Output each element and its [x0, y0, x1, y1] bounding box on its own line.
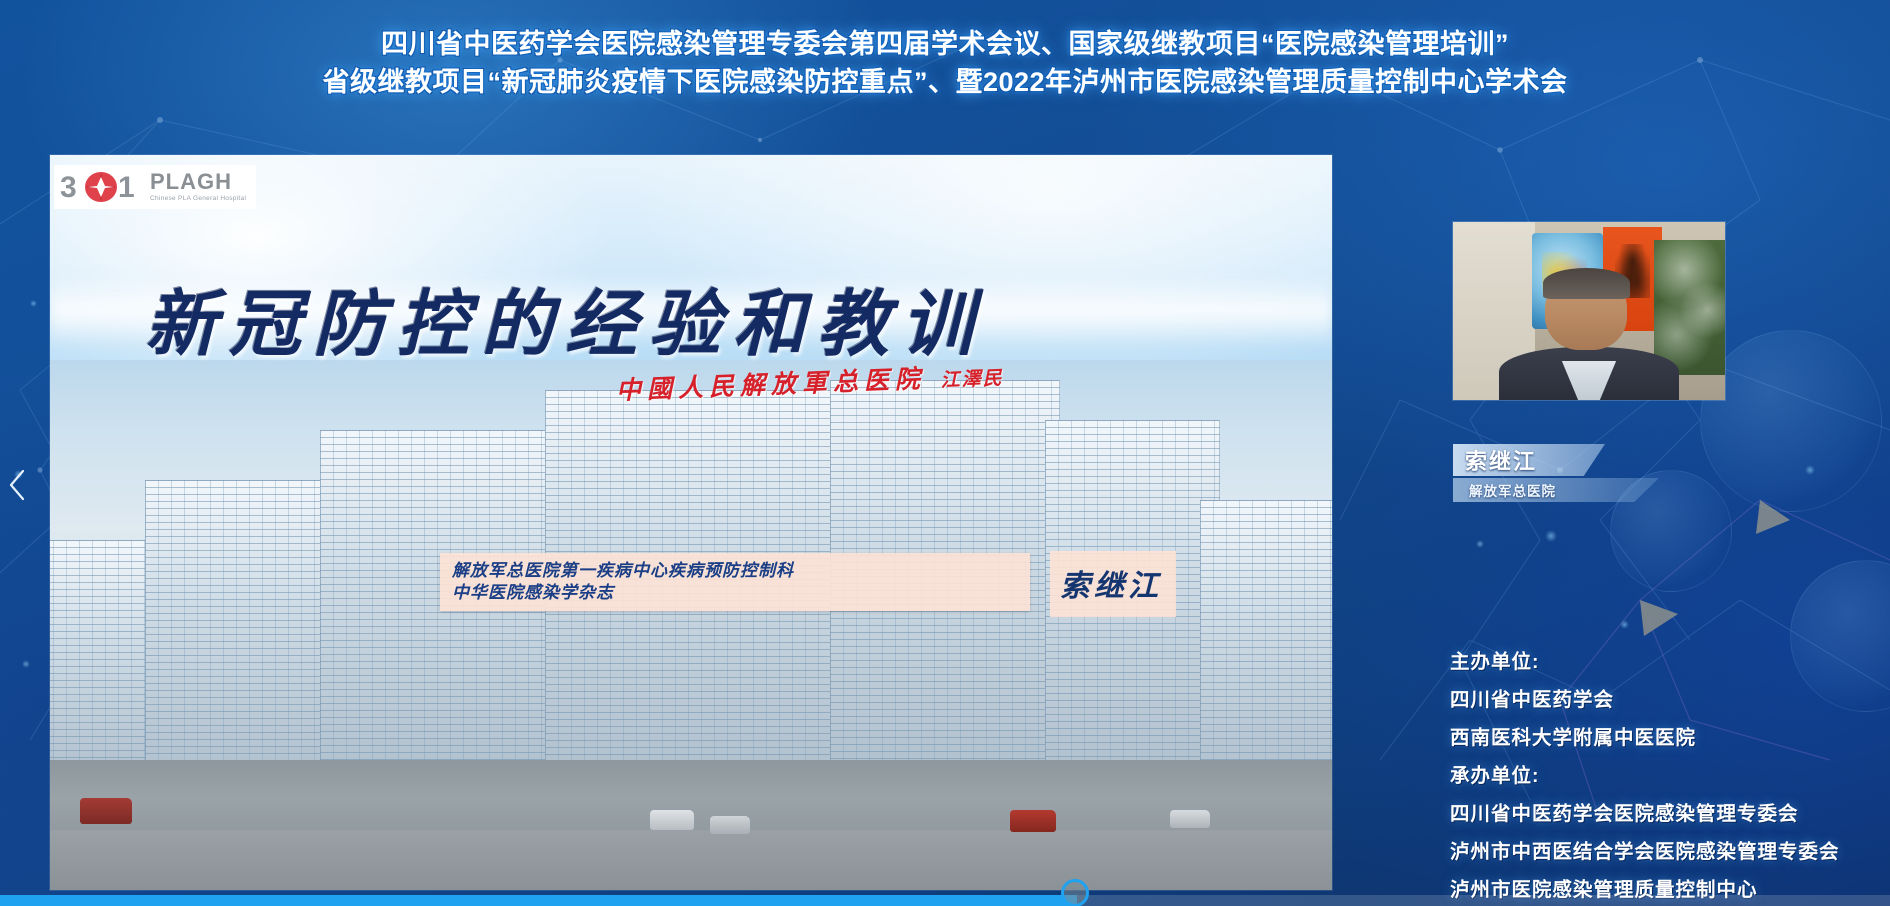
header-title-line-1: 四川省中医药学会医院感染管理专委会第四届学术会议、国家级继教项目“医院感染管理培…: [381, 29, 1509, 61]
road: [50, 830, 1332, 890]
logo-main-text: PLAGH: [150, 171, 246, 193]
vehicle: [1170, 810, 1210, 828]
host-item-1: 西南医科大学附属中医医院: [1450, 721, 1890, 750]
previous-button[interactable]: [0, 455, 34, 515]
speaker-name: 索继江: [1453, 444, 1537, 476]
slide-subtitle-signature: 江澤民: [940, 367, 1004, 391]
speaker-hair: [1543, 268, 1630, 298]
organizer-item-0: 四川省中医药学会医院感染管理专委会: [1450, 797, 1890, 826]
presentation-slide[interactable]: 3 1 PLAGH Chinese PLA General Hospital: [50, 155, 1332, 890]
organizer-item-1: 泸州市中西医结合学会医院感染管理专委会: [1450, 835, 1890, 864]
brain-emblem-icon: 3 1: [60, 170, 144, 204]
slide-caption-box: 解放军总医院第一疾病中心疾病预防控制科 中华医院感染学杂志: [440, 553, 1030, 611]
vehicle: [80, 798, 132, 824]
logo-text: PLAGH Chinese PLA General Hospital: [150, 171, 246, 203]
speaker-organization: 解放军总医院: [1453, 480, 1556, 500]
logo-301-icon: 3 1: [60, 170, 144, 204]
organizer-label: 承办单位:: [1450, 759, 1890, 788]
svg-text:1: 1: [118, 171, 135, 204]
plagh-logo: 3 1 PLAGH Chinese PLA General Hospital: [54, 165, 256, 209]
progress-fill: [0, 895, 1077, 906]
speaker-name-badge: 索继江: [1453, 444, 1605, 476]
plant: [1654, 240, 1725, 375]
speaker-video-tile[interactable]: [1453, 222, 1725, 400]
slide-title: 新冠防控的经验和教训: [145, 265, 985, 370]
svg-text:3: 3: [60, 171, 77, 204]
host-item-0: 四川省中医药学会: [1450, 683, 1890, 712]
logo-sub-text: Chinese PLA General Hospital: [150, 196, 246, 203]
slide-caption-lines: 解放军总医院第一疾病中心疾病预防控制科 中华医院感染学杂志: [440, 561, 794, 603]
chevron-left-icon: [7, 468, 27, 502]
webinar-player: 四川省中医药学会医院感染管理专委会第四届学术会议、国家级继教项目“医院感染管理培…: [0, 0, 1890, 906]
progress-handle[interactable]: [1061, 879, 1089, 906]
hospital-building-photo: [50, 360, 1332, 890]
building-block: [50, 540, 160, 790]
vehicle: [1010, 810, 1056, 832]
host-label: 主办单位:: [1450, 645, 1890, 674]
header-title-line-2: 省级继教项目“新冠肺炎疫情下医院感染防控重点”、暨2022年泸州市医院感染管理质…: [322, 67, 1567, 99]
organizers-block: 主办单位: 四川省中医药学会 西南医科大学附属中医医院 承办单位: 四川省中医药…: [1450, 645, 1890, 902]
building-block: [1200, 500, 1332, 790]
right-rail: 索继江 解放军总医院 主办单位: 四川省中医药学会 西南医科大学附属中医医院 承…: [1453, 0, 1890, 906]
vehicle: [650, 810, 694, 830]
vehicle: [710, 816, 750, 834]
caption-line-2: 中华医院感染学杂志: [452, 583, 794, 604]
building-block: [145, 480, 335, 790]
slide-caption-name: 索继江: [1050, 551, 1176, 617]
caption-line-1: 解放军总医院第一疾病中心疾病预防控制科: [452, 561, 794, 582]
playback-progress-bar[interactable]: [0, 892, 1890, 906]
speaker-org-badge: 解放军总医院: [1453, 478, 1659, 502]
